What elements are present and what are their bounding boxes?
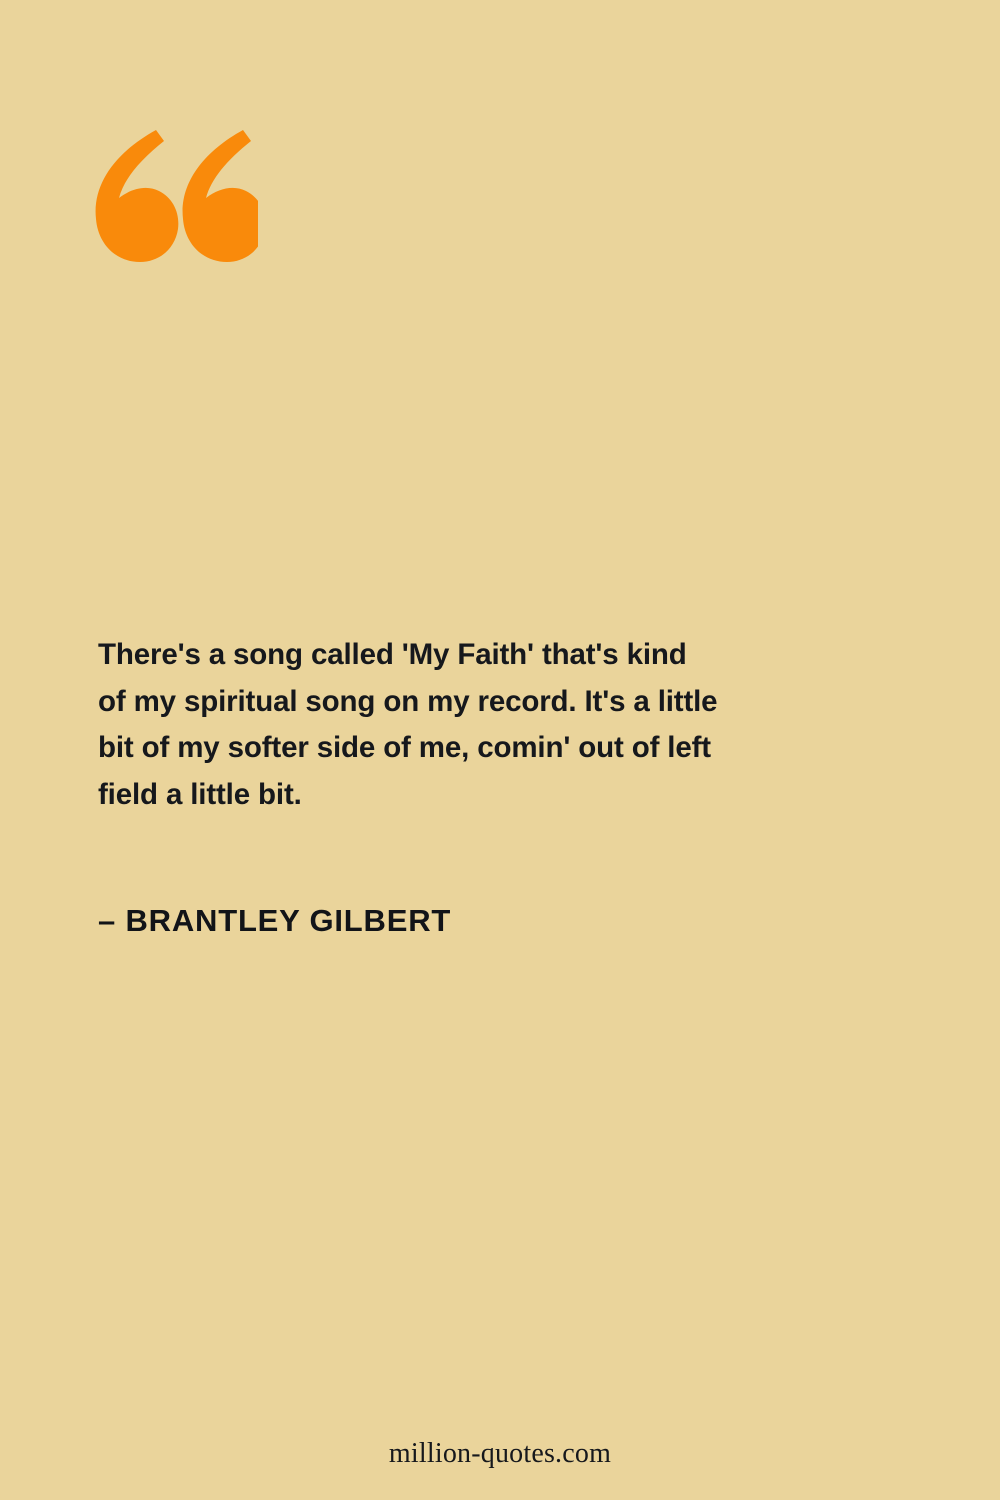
quote-line: bit of my softer side of me, comin' out …	[98, 725, 810, 772]
quote-author: – BRANTLEY GILBERT	[98, 903, 451, 939]
quote-card: There's a song called 'My Faith' that's …	[0, 0, 1000, 1500]
quote-line: There's a song called 'My Faith' that's …	[98, 632, 810, 679]
double-quote-open-icon	[88, 122, 258, 282]
quote-line: of my spiritual song on my record. It's …	[98, 679, 810, 726]
site-footer-label: million-quotes.com	[389, 1438, 611, 1469]
quote-line: field a little bit.	[98, 772, 810, 819]
quote-text: There's a song called 'My Faith' that's …	[98, 632, 810, 818]
site-footer: million-quotes.com	[0, 1438, 1000, 1470]
